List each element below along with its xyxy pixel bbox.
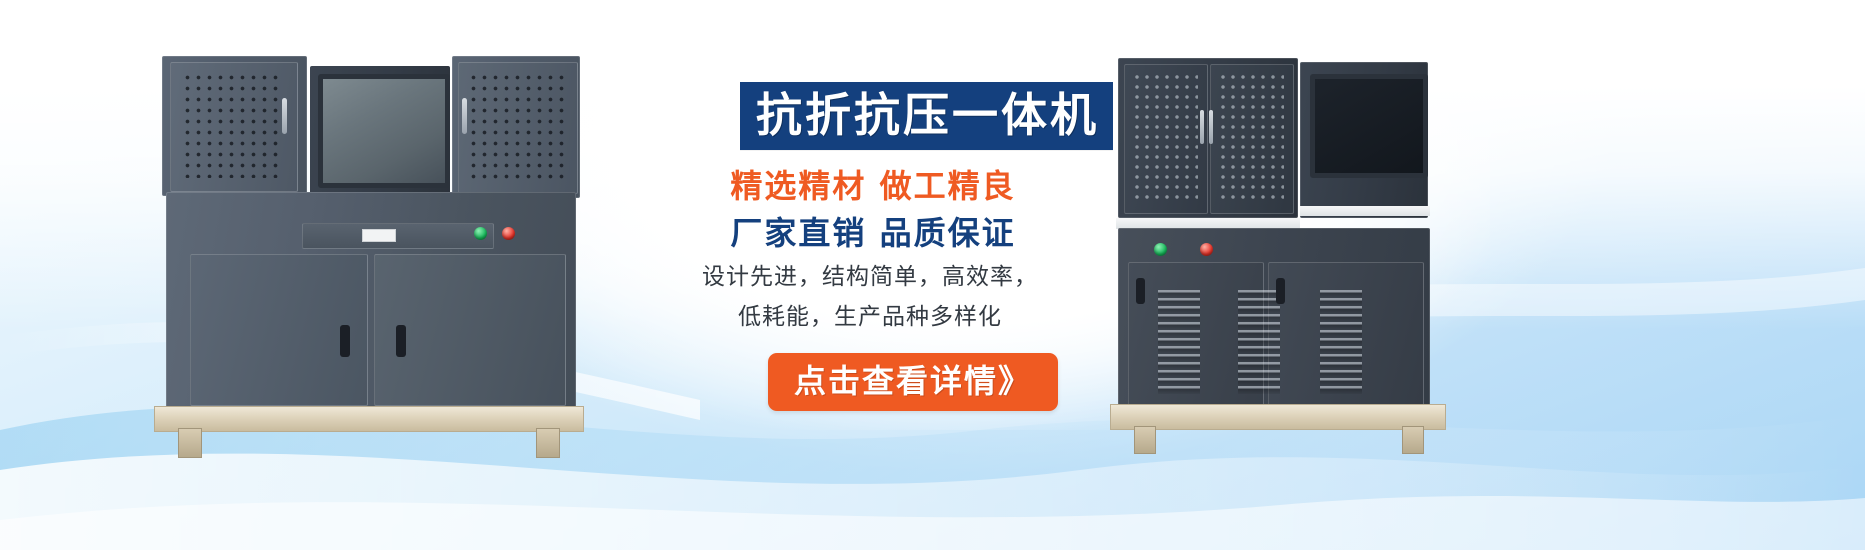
indicator-led-green — [1154, 243, 1167, 256]
perforated-vent-upper-left — [1132, 72, 1198, 204]
cta-button[interactable]: 点击查看详情》 — [768, 353, 1058, 411]
door-handle-right — [1276, 278, 1285, 304]
drawer-label — [362, 229, 396, 242]
door-handle-left — [1136, 278, 1145, 304]
control-drawer — [302, 223, 494, 249]
promo-banner: 抗折抗压一体机 精选精材 做工精良 厂家直销 品质保证 设计先进，结构简单，高效… — [0, 0, 1865, 550]
pallet-leg-right — [536, 428, 560, 458]
perforated-vent-right — [468, 72, 564, 180]
door-handle-left — [340, 325, 350, 357]
product-image-right — [1110, 38, 1500, 438]
wooden-pallet — [1110, 404, 1446, 430]
pallet-leg-right — [1402, 426, 1424, 454]
louvre-vent-mid — [1238, 290, 1280, 394]
pallet-leg-left — [178, 428, 202, 458]
indicator-led-green — [474, 227, 487, 240]
cta-button-label: 点击查看详情》 — [794, 363, 1032, 399]
door-handle-right — [396, 325, 406, 357]
description-line-1: 设计先进，结构简单，高效率， — [640, 263, 1100, 291]
subheadline-blue: 厂家直销 品质保证 — [658, 215, 1088, 251]
perforated-vent-upper-right — [1218, 72, 1284, 204]
indicator-led-red — [1200, 243, 1213, 256]
page-title: 抗折抗压一体机 — [756, 89, 1099, 141]
louvre-vent-left — [1158, 290, 1200, 394]
description-line-2: 低耗能，生产品种多样化 — [640, 303, 1100, 331]
perforated-vent-left — [182, 72, 282, 178]
pallet-leg-left — [1134, 426, 1156, 454]
subheadline-orange: 精选精材 做工精良 — [658, 168, 1088, 204]
louvre-vent-right — [1320, 290, 1362, 394]
product-image-left — [150, 40, 580, 440]
wooden-pallet — [154, 406, 584, 432]
control-monitor-right — [1310, 74, 1428, 178]
headline-banner: 抗折抗压一体机 — [740, 82, 1113, 150]
shelf-strip-right-2 — [1300, 206, 1430, 216]
indicator-led-red — [502, 227, 515, 240]
control-monitor-left — [318, 74, 450, 188]
